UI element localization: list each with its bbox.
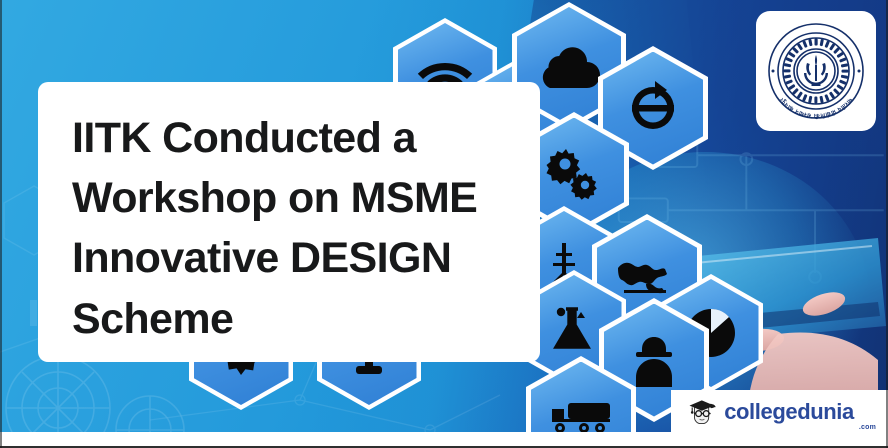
promo-banner: IITK Conducted a Workshop on MSME Innova… — [0, 0, 888, 448]
page-title: IITK Conducted a Workshop on MSME Innova… — [72, 108, 506, 349]
truck-icon — [550, 401, 612, 435]
collegedunia-wordmark: collegedunia — [724, 401, 854, 423]
left-edge-border — [0, 0, 2, 448]
flask-icon — [550, 303, 598, 355]
graduate-mascot-icon — [687, 397, 717, 427]
cloud-icon — [537, 44, 601, 88]
collegedunia-watermark[interactable]: collegedunia .com — [671, 390, 888, 434]
refresh-cycle-icon — [624, 79, 682, 137]
gears-icon — [545, 147, 603, 201]
headline-card: IITK Conducted a Workshop on MSME Innova… — [38, 82, 540, 362]
bottom-white-band — [0, 432, 888, 446]
worker-helmet-icon — [629, 333, 679, 387]
iitk-logo: भारतीय प्रौद्योगिकी संस्थान कानपुर INDIA… — [756, 11, 876, 131]
iit-kanpur-seal-icon: भारतीय प्रौद्योगिकी संस्थान कानपुर INDIA… — [764, 19, 868, 123]
world-map-icon — [616, 256, 678, 296]
